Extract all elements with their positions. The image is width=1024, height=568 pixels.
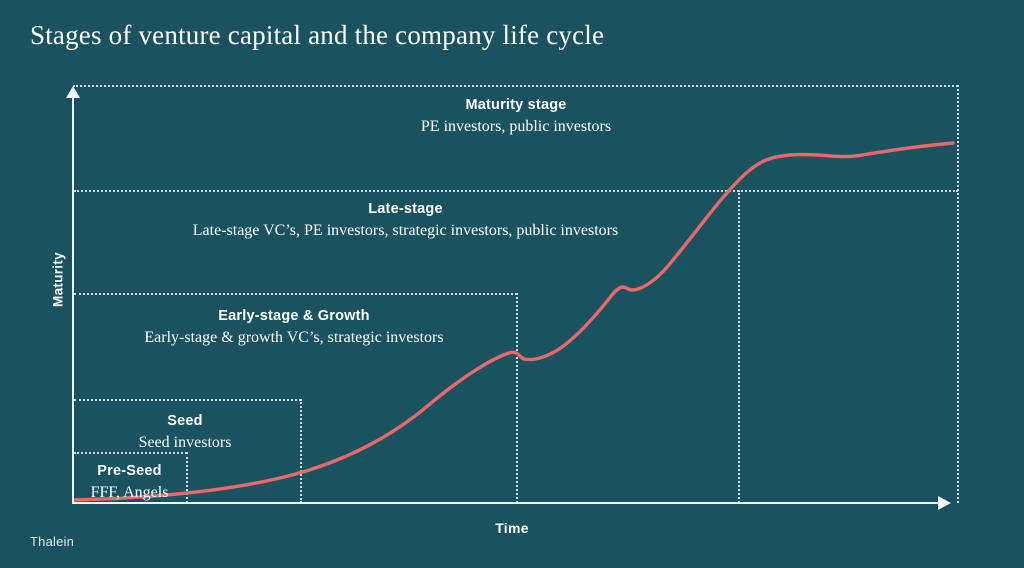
stage-description-preseed: FFF, Angels xyxy=(77,482,182,503)
stage-heading-early: Early-stage & Growth xyxy=(77,307,511,326)
x-axis-arrow-icon xyxy=(938,496,951,510)
chart-canvas: Stages of venture capital and the compan… xyxy=(0,0,1024,568)
stage-heading-preseed: Pre-Seed xyxy=(77,462,182,481)
stage-heading-seed: Seed xyxy=(77,412,293,431)
stage-heading-maturity: Maturity stage xyxy=(312,96,720,115)
y-axis-line xyxy=(72,96,74,504)
stage-heading-late: Late-stage xyxy=(173,200,638,219)
stage-label-early: Early-stage & Growth Early-stage & growt… xyxy=(77,307,511,348)
stage-description-maturity: PE investors, public investors xyxy=(312,116,720,137)
y-axis-title: Maturity xyxy=(51,220,66,340)
stage-description-late: Late-stage VC’s, PE investors, strategic… xyxy=(173,220,638,241)
x-axis-line xyxy=(73,502,941,504)
stage-label-late: Late-stage Late-stage VC’s, PE investors… xyxy=(173,200,638,241)
stage-label-maturity: Maturity stage PE investors, public inve… xyxy=(312,96,720,137)
stage-description-early: Early-stage & growth VC’s, strategic inv… xyxy=(77,327,511,348)
stage-label-seed: Seed Seed investors xyxy=(77,412,293,453)
x-axis-title: Time xyxy=(0,520,1024,536)
stage-label-preseed: Pre-Seed FFF, Angels xyxy=(77,462,182,503)
watermark: Thalein xyxy=(30,534,74,549)
y-axis-arrow-icon xyxy=(66,86,80,98)
stage-description-seed: Seed investors xyxy=(77,432,293,453)
